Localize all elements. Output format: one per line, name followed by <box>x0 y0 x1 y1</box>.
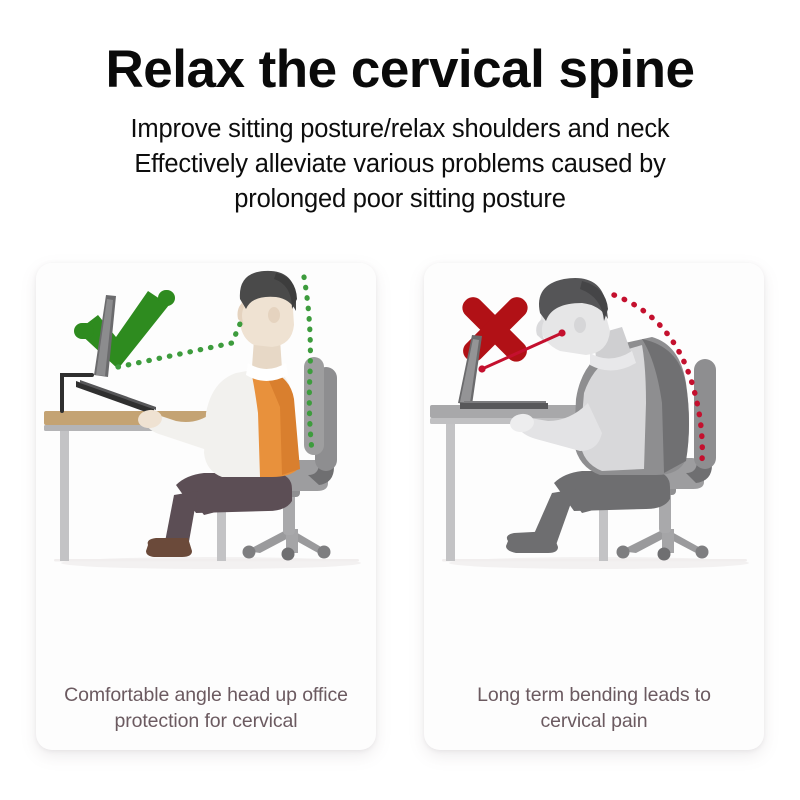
caption-bad-posture: Long term bending leads to cervical pain <box>438 683 750 735</box>
illustration-good-posture <box>36 263 376 678</box>
caption-line-2: cervical pain <box>438 709 750 735</box>
card-bad-posture[interactable]: Long term bending leads to cervical pain <box>424 263 764 750</box>
card-good-posture[interactable]: Comfortable angle head up office protect… <box>36 263 376 750</box>
caption-line-2: protection for cervical <box>50 709 362 735</box>
comparison-cards: Comfortable angle head up office protect… <box>0 263 800 763</box>
subtitle-line-3: prolonged poor sitting posture <box>0 182 800 217</box>
caption-line-1: Comfortable angle head up office <box>50 683 362 709</box>
page-subtitle: Improve sitting posture/relax shoulders … <box>0 99 800 216</box>
subtitle-line-1: Improve sitting posture/relax shoulders … <box>0 112 800 147</box>
page-title: Relax the cervical spine <box>0 0 800 99</box>
subtitle-line-2: Effectively alleviate various problems c… <box>0 147 800 182</box>
header: Relax the cervical spine Improve sitting… <box>0 0 800 216</box>
poster-page: Relax the cervical spine Improve sitting… <box>0 0 800 800</box>
illustration-bad-posture <box>424 263 764 678</box>
caption-line-1: Long term bending leads to <box>438 683 750 709</box>
caption-good-posture: Comfortable angle head up office protect… <box>50 683 362 735</box>
